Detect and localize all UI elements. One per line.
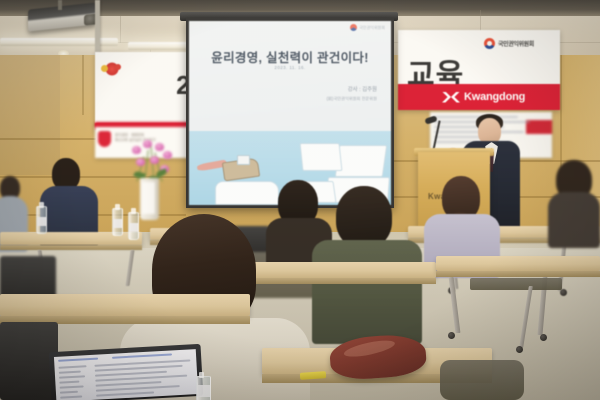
water-bottle (128, 212, 139, 240)
ceiling-light-strip (0, 38, 118, 46)
slide-logo-label: 국민권익위원회 (359, 25, 385, 31)
emblem-icon (105, 62, 119, 76)
slide-title: 윤리경영, 실천력이 관건이다! (189, 47, 391, 66)
desk-edge (436, 271, 600, 277)
slide-gov-emblem-icon (350, 24, 357, 31)
gov-logo-label: 국민권익위원회 (498, 39, 534, 48)
desk-mid-right (436, 256, 600, 271)
water-bottle-foreground (196, 376, 211, 400)
kwangdong-mark-icon (442, 92, 461, 103)
wall-panel-seam (0, 138, 96, 140)
desk-front-left (0, 294, 250, 316)
water-bottle (36, 206, 47, 234)
projection-screen: 국민권익위원회 윤리경영, 실천력이 관건이다! 2023. 11. 16. 강… (186, 18, 394, 208)
desk-edge (236, 278, 436, 284)
bag-highlight (343, 337, 396, 360)
presentation-slide: 국민권익위원회 윤리경영, 실천력이 관건이다! 2023. 11. 16. 강… (189, 21, 391, 205)
poster-badge-icon (98, 131, 111, 147)
wall-corner-seam (82, 55, 84, 115)
vase-ribbon (142, 182, 155, 214)
projector-mount (58, 0, 62, 10)
banner-right: 국민권익위원회 교육 Kwangdong (398, 30, 560, 110)
gov-emblem-icon (484, 38, 495, 49)
poster-red-band (95, 122, 195, 127)
water-bottle (112, 208, 123, 236)
slide-art-crate (237, 155, 250, 165)
poster-lower-text: 윤리경영 · 청렴문화 확산교육 실천실천 전사워크 (115, 133, 189, 142)
desk-caster (560, 289, 567, 296)
photo-scene: 20 윤리경영 · 청렴문화 확산교육 실천실천 전사워크 국민권익위원회 교육… (0, 0, 600, 400)
kwangdong-logo-label: Kwangdong (464, 91, 525, 103)
kwangdong-logo: Kwangdong (442, 91, 525, 103)
backpack-on-floor (440, 360, 524, 400)
wall-left-section (0, 55, 60, 175)
foreground-laptop (49, 344, 204, 400)
slide-credit-org: (前)국민권익위원회 전문위원 (326, 95, 377, 102)
desk-crossbar (470, 278, 562, 290)
desk-caster (448, 332, 455, 339)
desk-caster (516, 346, 523, 353)
projector-support-arm (95, 0, 100, 58)
slide-date: 2023. 11. 16. (189, 65, 391, 70)
slide-credit-name: 강사 : 김주원 (348, 87, 377, 94)
desk-caster (540, 334, 547, 341)
desk-edge (0, 245, 142, 250)
laptop-screen (54, 349, 198, 400)
desk-mid-center (236, 262, 436, 278)
government-logo: 국민권익위원회 (484, 38, 534, 49)
slide-corner-logo: 국민권익위원회 (350, 24, 385, 31)
